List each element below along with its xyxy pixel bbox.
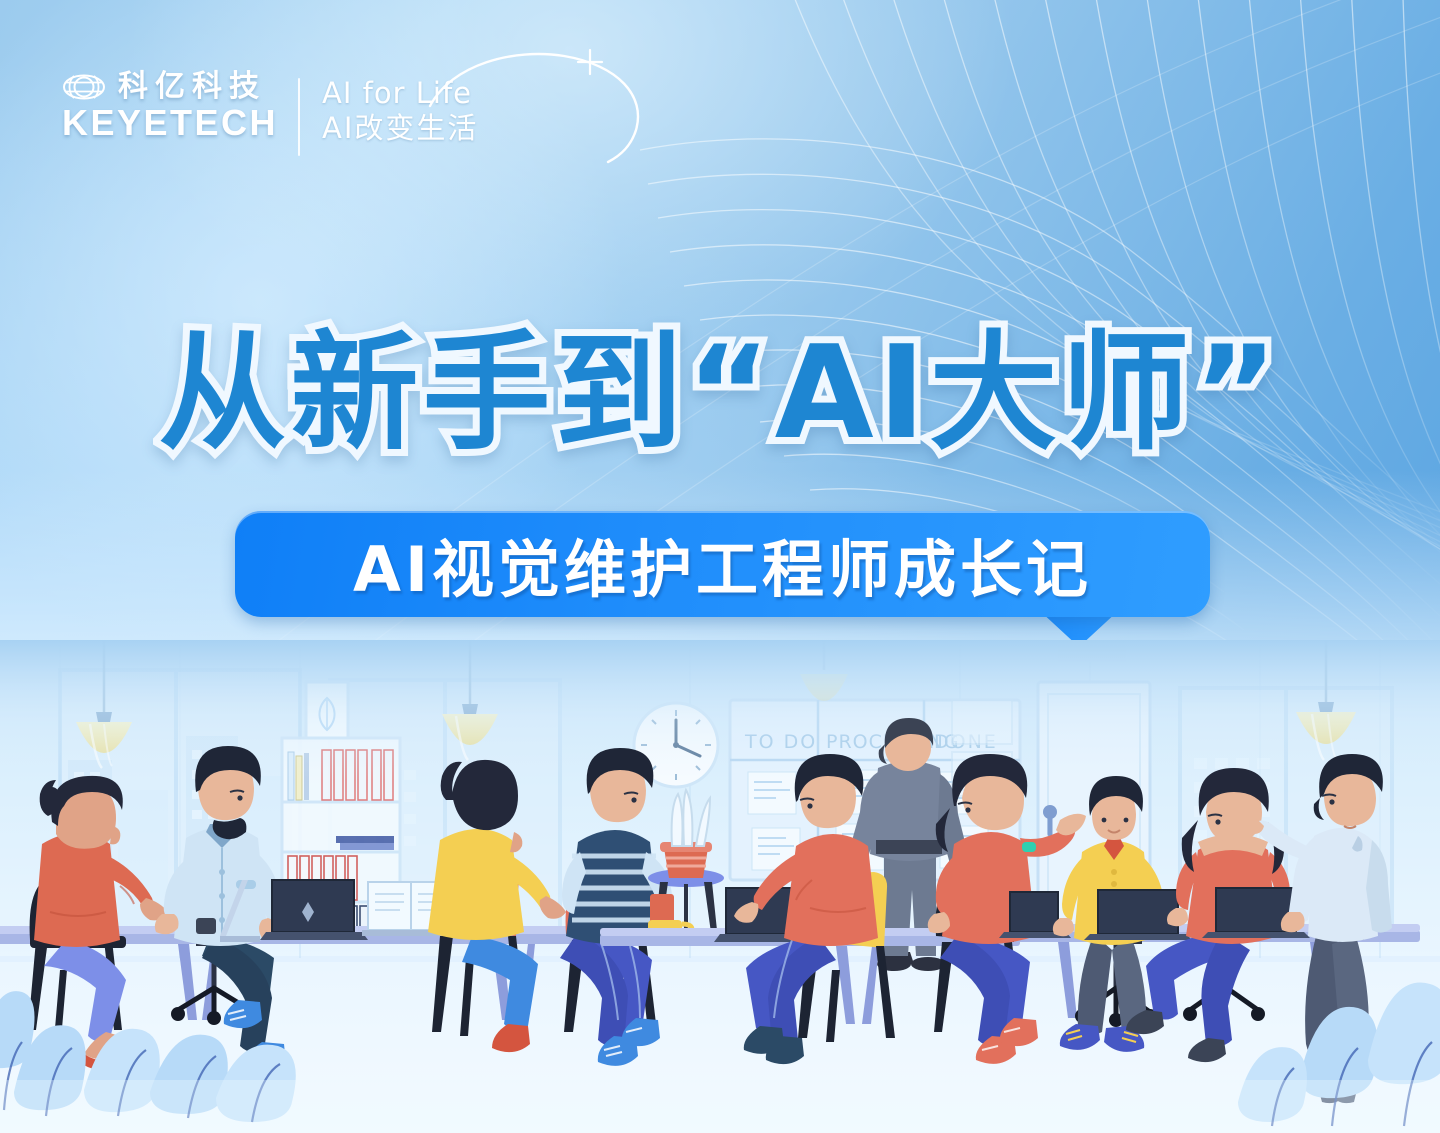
- laptop-dark-center-left: [260, 880, 368, 940]
- brand-logo-block: 科亿科技 KEYETECH AI for Life AI改变生活: [62, 72, 478, 156]
- banner-label: AI视觉维护工程师成长记: [235, 511, 1210, 617]
- brand-tagline-en: AI for Life: [322, 76, 478, 111]
- brand-name-group: 科亿科技 KEYETECH: [62, 72, 278, 143]
- brand-name-cn: 科亿科技: [118, 72, 266, 102]
- brand-tagline-cn: AI改变生活: [322, 111, 478, 146]
- coffee-mug-left: [196, 918, 216, 934]
- subtitle-banner: AI视觉维护工程师成长记: [235, 511, 1210, 643]
- office-team-working-illustration: TO DO PROCESSING DONE: [0, 640, 1440, 1133]
- eye-lens-icon: [62, 72, 106, 102]
- headline-title: 从新手到“AI大师”: [0, 330, 1440, 458]
- brand-tagline-group: AI for Life AI改变生活: [322, 72, 478, 147]
- brand-name-en: KEYETECH: [62, 104, 278, 143]
- brand-divider: [298, 78, 300, 156]
- poster-canvas: 科亿科技 KEYETECH AI for Life AI改变生活 从新手到“AI…: [0, 0, 1440, 1133]
- background-glow-top: [120, 0, 1020, 360]
